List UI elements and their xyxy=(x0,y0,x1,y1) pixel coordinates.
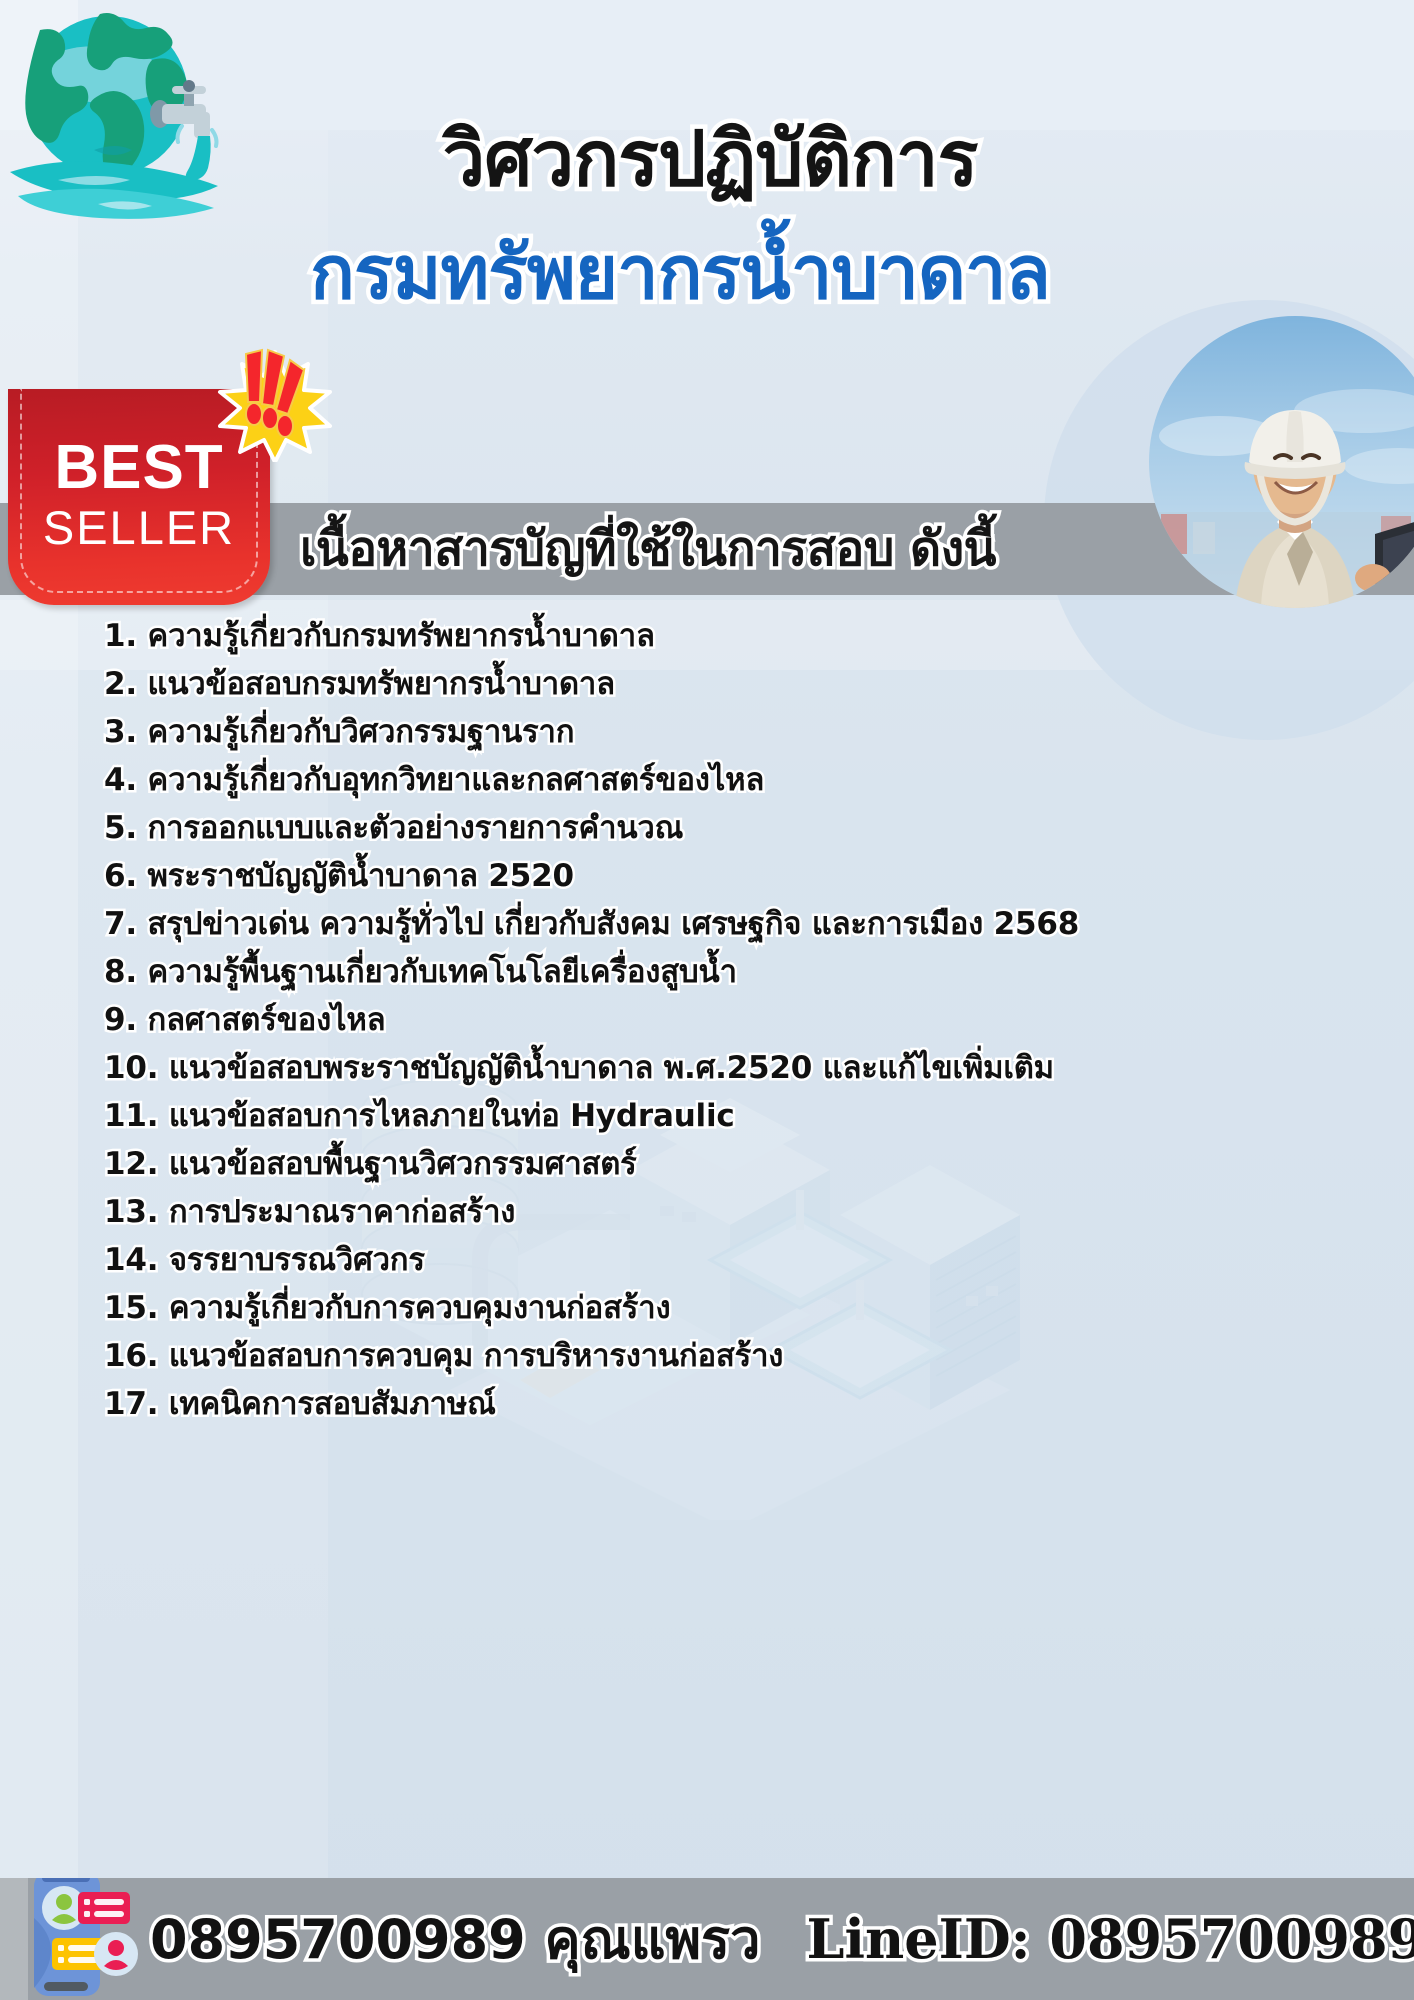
list-item: 15. ความรู้เกี่ยวกับการควบคุมงานก่อสร้าง xyxy=(104,1284,1374,1332)
list-item: 10. แนวข้อสอบพระราชบัญญัตินํ้าบาดาล พ.ศ.… xyxy=(104,1044,1374,1092)
badge-line-seller: SELLER xyxy=(8,504,270,551)
footer-phone-text: 0895700989 คุณแพรว xyxy=(150,1896,760,1982)
page-subtitle: กรมทรัพยากรน้ำบาดาล xyxy=(180,234,1180,314)
banner-heading: เนื้อหาสารบัญที่ใช้ในการสอบ ดังนี้ xyxy=(300,505,1200,593)
footer-lineid-text: LineID: 0895700989 xyxy=(806,1907,1414,1971)
list-item: 8. ความรู้พื้นฐานเกี่ยวกับเทคโนโลยีเครื่… xyxy=(104,948,1374,996)
list-item: 1. ความรู้เกี่ยวกับกรมทรัพยากรน้ำบาดาล xyxy=(104,612,1374,660)
list-item: 16. แนวข้อสอบการควบคุม การบริหารงานก่อสร… xyxy=(104,1332,1374,1380)
exclamation-burst-icon xyxy=(212,336,338,462)
list-item: 6. พระราชบัญญัตินํ้าบาดาล 2520 xyxy=(104,852,1374,900)
globe-water-faucet-icon xyxy=(2,0,224,225)
list-item: 3. ความรู้เกี่ยวกับวิศวกรรมฐานราก xyxy=(104,708,1374,756)
list-item: 14. จรรยาบรรณวิศวกร xyxy=(104,1236,1374,1284)
list-item: 5. การออกแบบและตัวอย่างรายการคำนวณ xyxy=(104,804,1374,852)
list-item: 7. สรุปข่าวเด่น ความรู้ทั่วไป เกี่ยวกับส… xyxy=(104,900,1374,948)
topic-list: 1. ความรู้เกี่ยวกับกรมทรัพยากรน้ำบาดาล 2… xyxy=(104,612,1374,1428)
list-item: 2. แนวข้อสอบกรมทรัพยากรน้ำบาดาล xyxy=(104,660,1374,708)
list-item: 9. กลศาสตร์ของไหล xyxy=(104,996,1374,1044)
footer-contact: 0895700989 คุณแพรว LineID: 0895700989 xyxy=(150,1884,1414,1994)
contact-phone-icon xyxy=(22,1878,142,2000)
poster-root: วิศวกรปฏิบัติการ กรมทรัพยากรน้ำบาดาล เนื… xyxy=(0,0,1414,2000)
list-item: 4. ความรู้เกี่ยวกับอุทกวิทยาและกลศาสตร์ข… xyxy=(104,756,1374,804)
background-column-left xyxy=(0,0,78,1880)
list-item: 17. เทคนิคการสอบสัมภาษณ์ xyxy=(104,1380,1374,1428)
list-item: 11. แนวข้อสอบการไหลภายในท่อ Hydraulic xyxy=(104,1092,1374,1140)
list-item: 13. การประมาณราคาก่อสร้าง xyxy=(104,1188,1374,1236)
list-item: 12. แนวข้อสอบพื้นฐานวิศวกรรมศาสตร์ xyxy=(104,1140,1374,1188)
page-title: วิศวกรปฏิบัติการ xyxy=(250,118,1170,200)
